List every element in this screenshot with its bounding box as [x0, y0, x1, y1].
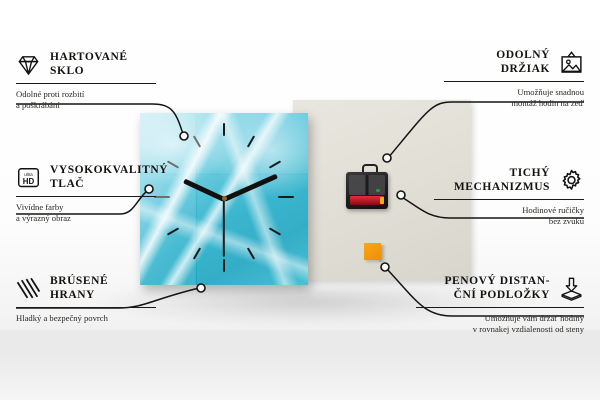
- feature-foam-spacers: PENOVÝ DISTAN- ČNÍ PODLOŽKY Umožňuje vám…: [416, 274, 584, 335]
- gear-icon: [559, 168, 584, 193]
- feature-desc-line1: Odolné proti rozbití: [16, 89, 156, 100]
- feature-rule: [16, 307, 156, 308]
- feature-title-line1: VYSOKOKVALITNÝ: [50, 163, 168, 177]
- feature-desc-line1: Umožňuje snadnou: [444, 87, 584, 98]
- diamond-icon: [16, 52, 41, 77]
- feature-desc-line2: montáž hodin na zeď: [444, 98, 584, 109]
- feature-desc-line2: bez zvuku: [434, 216, 584, 227]
- feature-rule: [444, 81, 584, 82]
- feature-desc-line1: Hodinové ručičky: [434, 205, 584, 216]
- feature-tempered-glass: HARTOVANÉ SKLO Odolné proti rozbití a po…: [16, 50, 156, 111]
- svg-text:HD: HD: [23, 176, 35, 185]
- picture-hanger-icon: [559, 50, 584, 75]
- ultra-hd-icon: ultra HD: [16, 165, 41, 190]
- feature-silent-mechanism: TICHÝ MECHANIZMUS Hodinové ručičky bez z…: [434, 166, 584, 227]
- feature-high-quality-print: ultra HD VYSOKOKVALITNÝ TLAČ Vivídne far…: [16, 163, 156, 224]
- feature-desc-line2: a výrazný obraz: [16, 213, 156, 224]
- infographic-stage: HARTOVANÉ SKLO Odolné proti rozbití a po…: [0, 0, 600, 400]
- callout-dot-6: [381, 263, 389, 271]
- callout-dot-4: [383, 154, 391, 162]
- feature-desc-line2: a poškrábání: [16, 100, 156, 111]
- feature-polished-edges: BRÚSENÉ HRANY Hladký a bezpečný povrch: [16, 274, 156, 324]
- feature-title-line1: ODOLNÝ: [496, 48, 550, 62]
- feature-rule: [16, 83, 156, 84]
- feature-title-line2: ČNÍ PODLOŽKY: [444, 288, 550, 302]
- feature-rule: [434, 199, 584, 200]
- feature-title-line1: BRÚSENÉ: [50, 274, 108, 288]
- callout-dot-3: [197, 284, 205, 292]
- arrow-onto-pad-icon: [559, 276, 584, 301]
- feature-title-line2: HRANY: [50, 288, 108, 302]
- feature-title-line1: TICHÝ: [454, 166, 550, 180]
- feature-title-line1: HARTOVANÉ: [50, 50, 128, 64]
- callout-dot-5: [397, 191, 405, 199]
- feature-header: ultra HD VYSOKOKVALITNÝ TLAČ: [16, 163, 156, 191]
- feature-header: TICHÝ MECHANIZMUS: [434, 166, 584, 194]
- feature-desc-line1: Hladký a bezpečný povrch: [16, 313, 156, 324]
- feature-rule: [416, 307, 584, 308]
- diagonal-stripes-icon: [16, 276, 41, 301]
- feature-title-line2: TLAČ: [50, 177, 168, 191]
- feature-header: BRÚSENÉ HRANY: [16, 274, 156, 302]
- feature-header: PENOVÝ DISTAN- ČNÍ PODLOŽKY: [416, 274, 584, 302]
- callout-line-4: [388, 102, 584, 158]
- feature-title-line1: PENOVÝ DISTAN-: [444, 274, 550, 288]
- feature-header: HARTOVANÉ SKLO: [16, 50, 156, 78]
- feature-desc-line2: v rovnakej vzdialenosti od steny: [416, 324, 584, 335]
- feature-title-line2: DRŽIAK: [496, 62, 550, 76]
- feature-desc-line1: Umožňuje vám držať hodiny: [416, 313, 584, 324]
- feature-rule: [16, 196, 156, 197]
- feature-desc-line1: Vivídne farby: [16, 202, 156, 213]
- feature-durable-hanger: ODOLNÝ DRŽIAK Umožňuje snadnou montáž ho…: [444, 48, 584, 109]
- feature-title-line2: MECHANIZMUS: [454, 180, 550, 194]
- feature-title-line2: SKLO: [50, 64, 128, 78]
- callout-dot-1: [180, 132, 188, 140]
- feature-header: ODOLNÝ DRŽIAK: [444, 48, 584, 76]
